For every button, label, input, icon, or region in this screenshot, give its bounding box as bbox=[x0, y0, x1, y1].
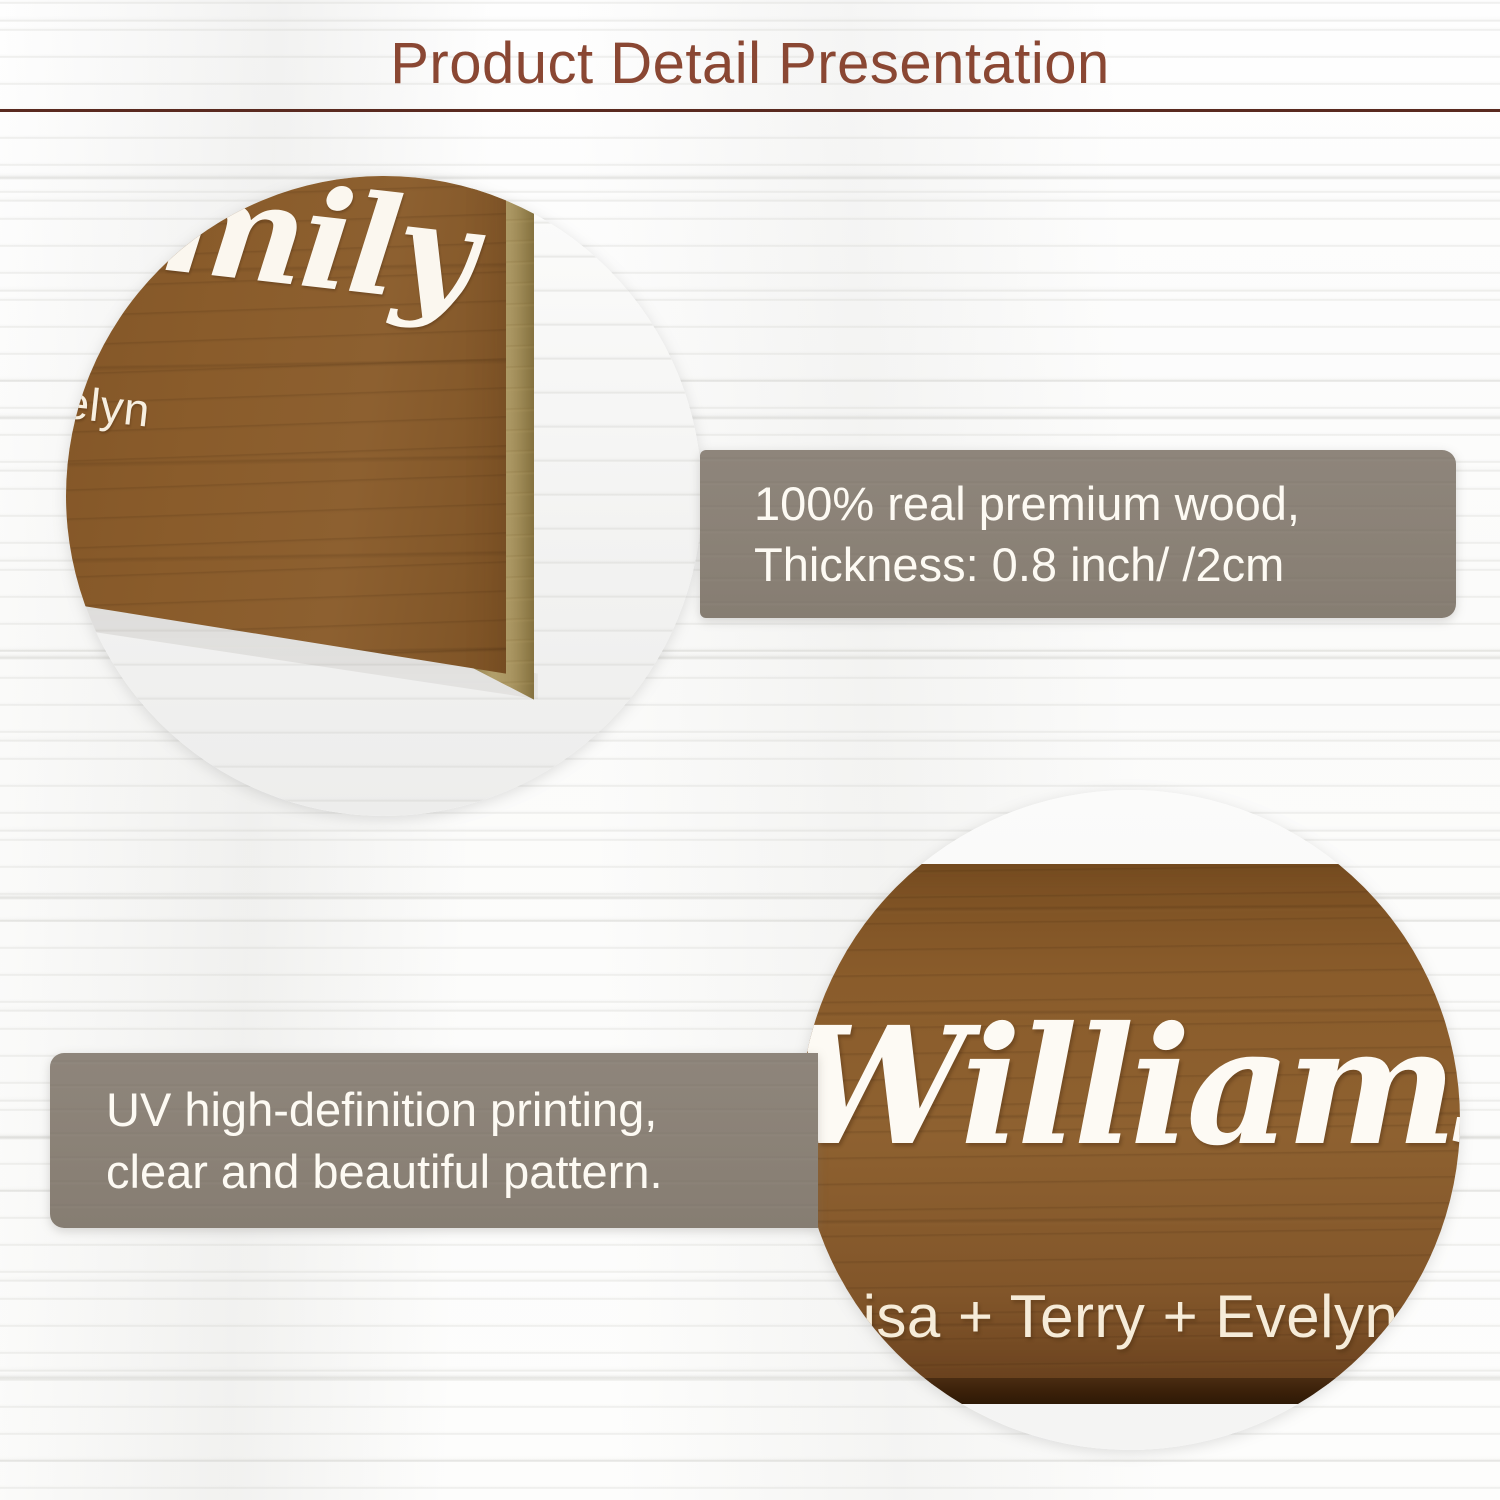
sign-names-text: + Lisa + Terry + Evelyn bbox=[800, 1282, 1398, 1351]
photo-inner-printing: Williams Fa + Lisa + Terry + Evelyn bbox=[800, 790, 1460, 1450]
board-printed-surface: Williams Fa + Lisa + Terry + Evelyn bbox=[800, 864, 1460, 1384]
caption-banner-printing: UV high-definition printing, clear and b… bbox=[50, 1053, 818, 1228]
page-header: Product Detail Presentation bbox=[0, 0, 1500, 112]
caption-line-2: clear and beautiful pattern. bbox=[106, 1141, 818, 1202]
product-detail-page: Product Detail Presentation family y + E… bbox=[0, 0, 1500, 1500]
sign-script-text: Williams Fa bbox=[800, 992, 1460, 1182]
photo-circle-thickness: family y + Evelyn bbox=[66, 176, 702, 816]
caption-line-1: UV high-definition printing, bbox=[106, 1079, 818, 1140]
sign-script-text: family bbox=[66, 176, 481, 337]
sign-names-text: y + Evelyn bbox=[66, 360, 153, 437]
photo-circle-printing: Williams Fa + Lisa + Terry + Evelyn bbox=[800, 790, 1460, 1450]
caption-line-1: 100% real premium wood, bbox=[754, 473, 1456, 534]
page-title: Product Detail Presentation bbox=[0, 30, 1500, 97]
header-divider bbox=[0, 109, 1500, 112]
board-bottom-edge bbox=[800, 1378, 1460, 1404]
board-front-face: family y + Evelyn bbox=[66, 176, 506, 776]
caption-line-2: Thickness: 0.8 inch/ /2cm bbox=[754, 534, 1456, 595]
caption-banner-thickness: 100% real premium wood, Thickness: 0.8 i… bbox=[700, 450, 1456, 618]
photo-inner-thickness: family y + Evelyn bbox=[66, 176, 702, 816]
